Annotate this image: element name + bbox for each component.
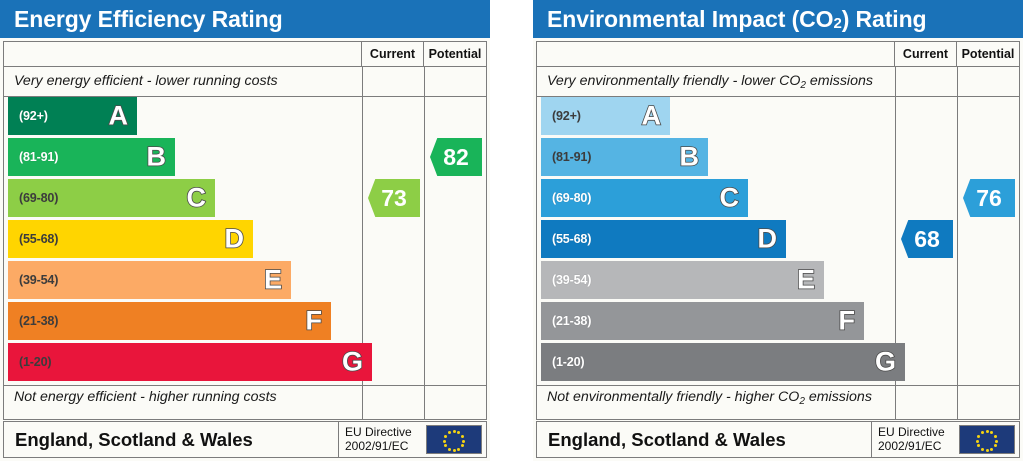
- energy-band-d: (55-68) D: [8, 220, 253, 258]
- co2-band-row-f: (21-38) F: [541, 302, 864, 340]
- co2-footer: England, Scotland & Wales EU Directive 2…: [536, 421, 1020, 458]
- epc-charts-container: Energy Efficiency Rating Current Potenti…: [0, 0, 1024, 461]
- co2-grid-area: Very environmentally friendly - lower CO…: [537, 67, 1019, 419]
- co2-band-c-range: (69-80): [552, 191, 591, 205]
- eu-flag-star: [986, 449, 989, 452]
- energy-band-g-letter: G: [342, 349, 363, 376]
- environmental-impact-title-text: Environmental Impact (CO: [547, 6, 833, 33]
- eu-flag-star: [461, 435, 464, 438]
- eu-flag-star: [981, 448, 984, 451]
- co2-column-headers: Current Potential: [537, 42, 1019, 67]
- energy-current-column-header: Current: [362, 42, 424, 66]
- co2-band-row-e: (39-54) E: [541, 261, 824, 299]
- eu-flag-star: [977, 435, 980, 438]
- energy-band-row-d: (55-68) D: [8, 220, 253, 258]
- co2-band-d: (55-68) D: [541, 220, 786, 258]
- eu-flag-star: [461, 444, 464, 447]
- co2-caption-bottom-subscript: 2: [799, 396, 805, 407]
- energy-efficiency-panel: Energy Efficiency Rating Current Potenti…: [0, 0, 490, 461]
- energy-divider-potential: [424, 67, 425, 419]
- energy-band-c-range: (69-80): [19, 191, 58, 205]
- eu-flag-star: [462, 440, 465, 443]
- co2-band-e: (39-54) E: [541, 261, 824, 299]
- eu-flag-star: [457, 448, 460, 451]
- co2-band-b-letter: B: [680, 144, 700, 171]
- co2-caption-top-subscript: 2: [800, 80, 806, 91]
- eu-flag-star: [981, 431, 984, 434]
- energy-efficiency-title-text: Energy Efficiency Rating: [14, 6, 283, 33]
- environmental-impact-panel: Environmental Impact (CO2) Rating Curren…: [533, 0, 1023, 461]
- energy-band-b-range: (81-91): [19, 150, 58, 164]
- eu-flag-star: [443, 440, 446, 443]
- co2-caption-bottom: Not environmentally friendly - higher CO…: [547, 389, 872, 405]
- co2-band-row-g: (1-20) G: [541, 343, 905, 381]
- energy-band-row-f: (21-38) F: [8, 302, 331, 340]
- co2-band-b: (81-91) B: [541, 138, 708, 176]
- co2-band-g: (1-20) G: [541, 343, 905, 381]
- energy-footer: England, Scotland & Wales EU Directive 2…: [3, 421, 487, 458]
- co2-band-f: (21-38) F: [541, 302, 864, 340]
- eu-flag-star: [995, 440, 998, 443]
- eu-flag-star: [976, 440, 979, 443]
- energy-band-e-letter: E: [264, 267, 282, 294]
- energy-band-row-e: (39-54) E: [8, 261, 291, 299]
- eu-flag-star: [990, 448, 993, 451]
- eu-flag-star: [444, 435, 447, 438]
- energy-caption-bottom-rule: [4, 385, 486, 386]
- eu-flag-star: [448, 448, 451, 451]
- column-header-spacer: [4, 42, 362, 66]
- co2-band-c-letter: C: [720, 185, 740, 212]
- eu-flag-star: [453, 430, 456, 433]
- energy-band-f: (21-38) F: [8, 302, 331, 340]
- co2-divider-potential: [957, 67, 958, 419]
- co2-band-row-d: (55-68) D: [541, 220, 786, 258]
- co2-caption-top-suffix: emissions: [806, 73, 873, 89]
- energy-efficiency-title: Energy Efficiency Rating: [0, 0, 490, 38]
- energy-directive-line1: EU Directive: [345, 426, 412, 440]
- eu-flag-star: [448, 431, 451, 434]
- co2-band-g-range: (1-20): [552, 355, 584, 369]
- energy-band-a-range: (92+): [19, 109, 48, 123]
- co2-directive-line2: 2002/91/EC: [878, 440, 941, 454]
- environmental-impact-title-subscript: 2: [833, 15, 841, 32]
- co2-directive-line1: EU Directive: [878, 426, 945, 440]
- energy-column-headers: Current Potential: [4, 42, 486, 67]
- energy-potential-rating-marker: 82: [430, 138, 482, 176]
- environmental-impact-body: Current Potential Very environmentally f…: [536, 41, 1020, 420]
- co2-bands-list: (92+) A (81-91) B (69-80) C: [541, 97, 895, 385]
- eu-flag-star: [977, 444, 980, 447]
- co2-band-d-letter: D: [758, 226, 778, 253]
- co2-potential-rating-marker: 76: [963, 179, 1015, 217]
- co2-band-a-range: (92+): [552, 109, 581, 123]
- co2-band-a: (92+) A: [541, 97, 670, 135]
- energy-potential-column-header: Potential: [424, 42, 486, 66]
- energy-band-a-letter: A: [109, 103, 129, 130]
- co2-caption-bottom-rule: [537, 385, 1019, 386]
- energy-band-f-range: (21-38): [19, 314, 58, 328]
- co2-band-c: (69-80) C: [541, 179, 748, 217]
- energy-directive-line2: 2002/91/EC: [345, 440, 408, 454]
- energy-band-f-letter: F: [306, 308, 323, 335]
- eu-flag-star: [453, 449, 456, 452]
- co2-current-rating-marker: 68: [901, 220, 953, 258]
- energy-band-row-a: (92+) A: [8, 97, 137, 135]
- co2-band-f-range: (21-38): [552, 314, 591, 328]
- energy-band-e: (39-54) E: [8, 261, 291, 299]
- energy-band-d-range: (55-68): [19, 232, 58, 246]
- co2-band-g-letter: G: [875, 349, 896, 376]
- co2-caption-bottom-suffix: emissions: [805, 389, 872, 405]
- co2-band-e-range: (39-54): [552, 273, 591, 287]
- environmental-impact-title: Environmental Impact (CO2) Rating: [533, 0, 1023, 38]
- eu-flag-star: [994, 435, 997, 438]
- energy-band-g: (1-20) G: [8, 343, 372, 381]
- energy-band-b-letter: B: [147, 144, 167, 171]
- energy-caption-bottom: Not energy efficient - higher running co…: [14, 389, 277, 405]
- energy-caption-top: Very energy efficient - lower running co…: [14, 73, 278, 89]
- energy-current-rating-marker: 73: [368, 179, 420, 217]
- energy-band-b: (81-91) B: [8, 138, 175, 176]
- energy-band-g-range: (1-20): [19, 355, 51, 369]
- energy-footer-directive: EU Directive 2002/91/EC: [338, 422, 424, 457]
- co2-footer-region: England, Scotland & Wales: [537, 422, 871, 457]
- energy-band-c-letter: C: [187, 185, 207, 212]
- co2-band-f-letter: F: [839, 308, 856, 335]
- co2-band-a-letter: A: [642, 103, 662, 130]
- eu-flag-icon: [959, 425, 1015, 454]
- co2-caption-top: Very environmentally friendly - lower CO…: [547, 73, 873, 89]
- eu-flag-star: [990, 431, 993, 434]
- co2-band-b-range: (81-91): [552, 150, 591, 164]
- eu-flag-star: [444, 444, 447, 447]
- co2-band-row-b: (81-91) B: [541, 138, 708, 176]
- energy-bands-list: (92+) A (81-91) B (69-80) C: [8, 97, 362, 385]
- eu-flag-icon: [426, 425, 482, 454]
- eu-flag-star: [986, 430, 989, 433]
- co2-band-e-letter: E: [797, 267, 815, 294]
- co2-column-header-spacer: [537, 42, 895, 66]
- energy-band-c: (69-80) C: [8, 179, 215, 217]
- co2-caption-top-text: Very environmentally friendly - lower CO: [547, 73, 800, 89]
- energy-band-e-range: (39-54): [19, 273, 58, 287]
- co2-band-row-a: (92+) A: [541, 97, 670, 135]
- energy-band-d-letter: D: [225, 226, 245, 253]
- co2-band-d-range: (55-68): [552, 232, 591, 246]
- eu-flag-star: [457, 431, 460, 434]
- eu-flag-star: [994, 444, 997, 447]
- co2-band-row-c: (69-80) C: [541, 179, 748, 217]
- energy-band-a: (92+) A: [8, 97, 137, 135]
- energy-footer-region: England, Scotland & Wales: [4, 422, 338, 457]
- energy-band-row-c: (69-80) C: [8, 179, 215, 217]
- energy-band-row-b: (81-91) B: [8, 138, 175, 176]
- energy-band-row-g: (1-20) G: [8, 343, 372, 381]
- co2-caption-bottom-text: Not environmentally friendly - higher CO: [547, 389, 799, 405]
- co2-footer-directive: EU Directive 2002/91/EC: [871, 422, 957, 457]
- energy-grid-area: Very energy efficient - lower running co…: [4, 67, 486, 419]
- co2-current-column-header: Current: [895, 42, 957, 66]
- energy-efficiency-body: Current Potential Very energy efficient …: [3, 41, 487, 420]
- co2-potential-column-header: Potential: [957, 42, 1019, 66]
- environmental-impact-title-suffix: ) Rating: [842, 6, 927, 33]
